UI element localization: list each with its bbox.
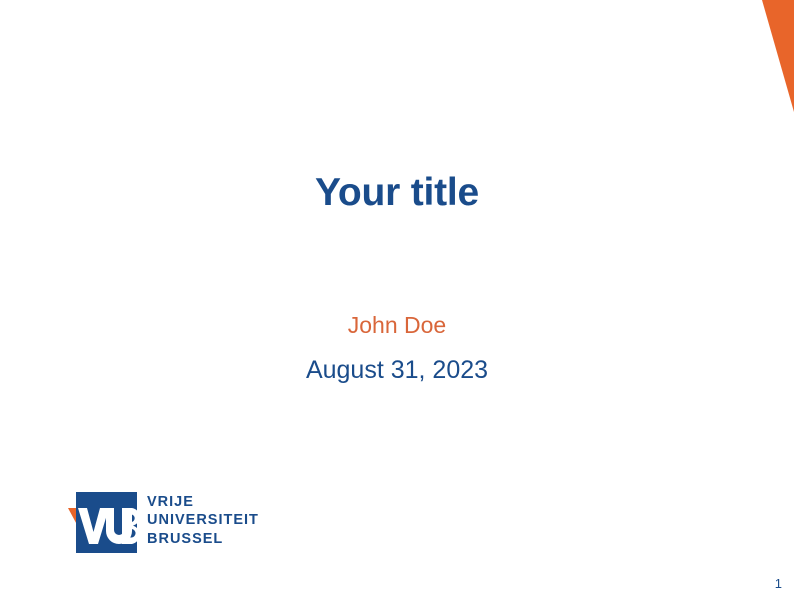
vub-logo-mark-icon [66, 490, 138, 554]
wordmark-line-1: VRIJE [147, 493, 259, 511]
orange-corner-triangle-icon [762, 0, 794, 112]
wordmark-line-2: UNIVERSITEIT [147, 511, 259, 529]
page-number: 1 [775, 576, 782, 591]
presentation-date: August 31, 2023 [0, 355, 794, 385]
page-title: Your title [0, 172, 794, 215]
vub-logo: VRIJE UNIVERSITEIT BRUSSEL [66, 490, 259, 556]
presentation-slide: Your title John Doe August 31, 2023 [0, 0, 794, 596]
wordmark-line-3: BRUSSEL [147, 530, 259, 548]
vub-logo-wordmark: VRIJE UNIVERSITEIT BRUSSEL [147, 493, 259, 548]
author-name: John Doe [0, 312, 794, 340]
